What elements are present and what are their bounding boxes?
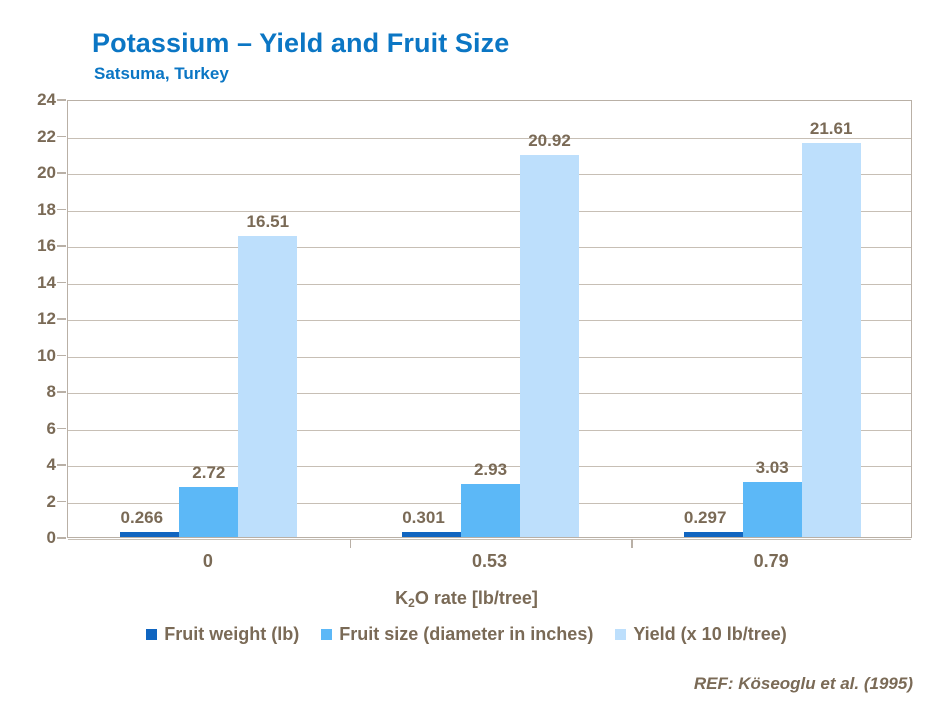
legend-label: Yield (x 10 lb/tree): [633, 624, 786, 645]
bar: [238, 236, 297, 537]
bar-value-label: 2.93: [474, 460, 507, 480]
chart-legend: Fruit weight (lb)Fruit size (diameter in…: [0, 624, 933, 645]
legend-item[interactable]: Yield (x 10 lb/tree): [615, 624, 786, 645]
x-axis-separator-tick: [631, 539, 633, 548]
y-axis-tick-mark: [57, 245, 66, 247]
x-axis-title-subscript: 2: [408, 596, 415, 610]
x-axis-tick-label: 0.79: [754, 551, 789, 572]
x-axis-tick-label: 0: [203, 551, 213, 572]
y-axis-tick-mark: [57, 282, 66, 284]
y-axis-tick-label: 20: [14, 163, 56, 183]
bar: [179, 487, 238, 537]
chart-title: Potassium – Yield and Fruit Size: [92, 28, 509, 59]
bar-value-label: 2.72: [192, 463, 225, 483]
chart-subtitle: Satsuma, Turkey: [94, 64, 229, 84]
y-axis-labels: 242220181614121086420: [8, 100, 56, 538]
legend-item[interactable]: Fruit size (diameter in inches): [321, 624, 593, 645]
gridline: [68, 393, 911, 394]
y-axis-tick-mark: [57, 172, 66, 174]
y-axis-tick-label: 14: [14, 273, 56, 293]
y-axis-tick-mark: [57, 355, 66, 357]
y-axis-tick-label: 24: [14, 90, 56, 110]
gridline: [68, 247, 911, 248]
gridline: [68, 320, 911, 321]
y-axis-tick-mark: [57, 464, 66, 466]
legend-swatch-icon: [146, 629, 157, 640]
bar: [120, 532, 179, 537]
x-axis-title: K2O rate [lb/tree]: [0, 588, 933, 609]
y-axis-tick-label: 6: [14, 419, 56, 439]
gridline: [68, 357, 911, 358]
y-axis-tick-label: 16: [14, 236, 56, 256]
y-axis-tick-label: 18: [14, 200, 56, 220]
gridline: [68, 284, 911, 285]
y-axis-tick-label: 10: [14, 346, 56, 366]
y-axis-tick-label: 12: [14, 309, 56, 329]
x-axis-tick-label: 0.53: [472, 551, 507, 572]
gridline: [68, 211, 911, 212]
y-axis-tick-mark: [57, 537, 66, 539]
legend-swatch-icon: [615, 629, 626, 640]
bar-value-label: 3.03: [756, 458, 789, 478]
y-axis-tick-label: 2: [14, 492, 56, 512]
bar-value-label: 21.61: [810, 119, 853, 139]
bar-value-label: 0.266: [121, 508, 164, 528]
y-axis-tick-mark: [57, 209, 66, 211]
gridline: [68, 430, 911, 431]
y-axis-tick-label: 0: [14, 528, 56, 548]
bar: [461, 484, 520, 537]
y-axis-tick-label: 4: [14, 455, 56, 475]
bar-value-label: 0.297: [684, 508, 727, 528]
bar-value-label: 0.301: [402, 508, 445, 528]
gridline: [68, 138, 911, 139]
bar: [520, 155, 579, 537]
legend-item[interactable]: Fruit weight (lb): [146, 624, 299, 645]
x-axis-title-suffix: O rate [lb/tree]: [415, 588, 538, 608]
gridline: [68, 539, 911, 540]
reference-citation: REF: Köseoglu et al. (1995): [694, 674, 913, 694]
bar: [743, 482, 802, 537]
bar-value-label: 20.92: [528, 131, 571, 151]
legend-swatch-icon: [321, 629, 332, 640]
x-axis-title-prefix: K: [395, 588, 408, 608]
y-axis-tick-label: 22: [14, 127, 56, 147]
bar: [802, 143, 861, 537]
legend-label: Fruit size (diameter in inches): [339, 624, 593, 645]
y-axis-tick-mark: [57, 136, 66, 138]
bar: [684, 532, 743, 537]
y-axis-tick-mark: [57, 99, 66, 101]
y-axis-tick-mark: [57, 391, 66, 393]
plot-area: 0.2662.7216.510.3012.9320.920.2973.0321.…: [67, 100, 912, 538]
y-axis-tick-mark: [57, 501, 66, 503]
gridline: [68, 174, 911, 175]
y-axis-tick-mark: [57, 428, 66, 430]
legend-label: Fruit weight (lb): [164, 624, 299, 645]
y-axis-tick-mark: [57, 318, 66, 320]
x-axis-separator-tick: [350, 539, 352, 548]
bar-value-label: 16.51: [247, 212, 290, 232]
y-axis-tick-label: 8: [14, 382, 56, 402]
bar: [402, 532, 461, 537]
